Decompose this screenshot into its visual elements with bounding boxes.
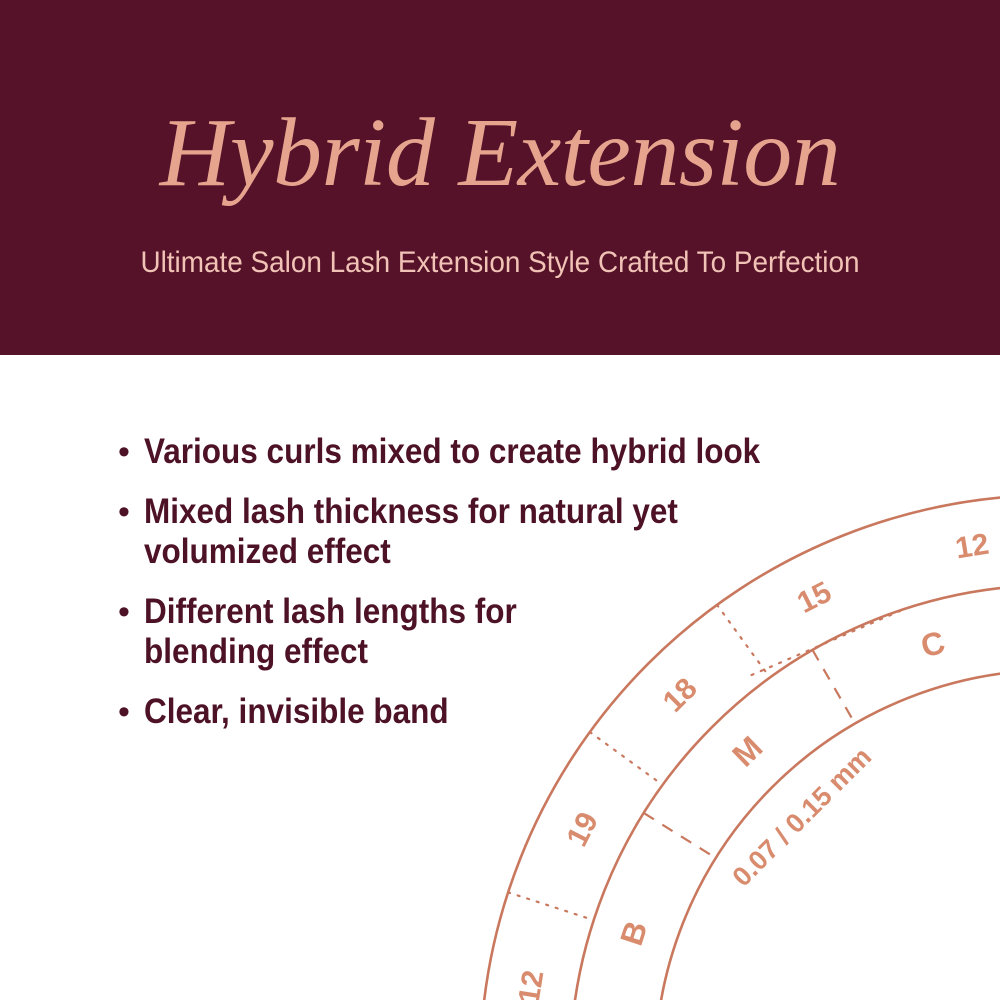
list-item: • Clear, invisible band bbox=[118, 692, 898, 732]
feature-list: • Various curls mixed to create hybrid l… bbox=[118, 432, 898, 752]
bullet-icon: • bbox=[118, 432, 144, 472]
bullet-icon: • bbox=[118, 692, 144, 732]
ring-label-length: 12 bbox=[953, 528, 991, 566]
bullet-icon: • bbox=[118, 592, 144, 632]
page-title: Hybrid Extension bbox=[0, 104, 1000, 202]
list-item-label: Various curls mixed to create hybrid loo… bbox=[144, 432, 823, 472]
divider-dashed bbox=[644, 813, 716, 858]
header-banner: Hybrid Extension Ultimate Salon Lash Ext… bbox=[0, 0, 1000, 355]
ring-label-length: 19 bbox=[560, 807, 605, 852]
list-item-label: Mixed lash thickness for natural yet vol… bbox=[144, 492, 823, 572]
list-item: • Various curls mixed to create hybrid l… bbox=[118, 432, 898, 472]
list-item-label: Clear, invisible band bbox=[144, 692, 823, 732]
bullet-icon: • bbox=[118, 492, 144, 532]
ring-label-length: 12 bbox=[513, 968, 551, 1000]
page-subtitle: Ultimate Salon Lash Extension Style Craf… bbox=[35, 245, 965, 281]
ring-labels-inner: 0.07 / 0.15 mm bbox=[727, 742, 878, 893]
ring-label-curl: C bbox=[917, 624, 949, 665]
list-item-label: Different lash lengths for blending effe… bbox=[144, 592, 823, 672]
list-item: • Mixed lash thickness for natural yet v… bbox=[118, 492, 898, 572]
divider-dotted bbox=[508, 892, 594, 920]
ring-label-curl: B bbox=[613, 917, 654, 950]
ring-label-thickness: 0.07 / 0.15 mm bbox=[727, 742, 878, 893]
list-item: • Different lash lengths for blending ef… bbox=[118, 592, 898, 672]
poster-canvas: Hybrid Extension Ultimate Salon Lash Ext… bbox=[0, 0, 1000, 1000]
